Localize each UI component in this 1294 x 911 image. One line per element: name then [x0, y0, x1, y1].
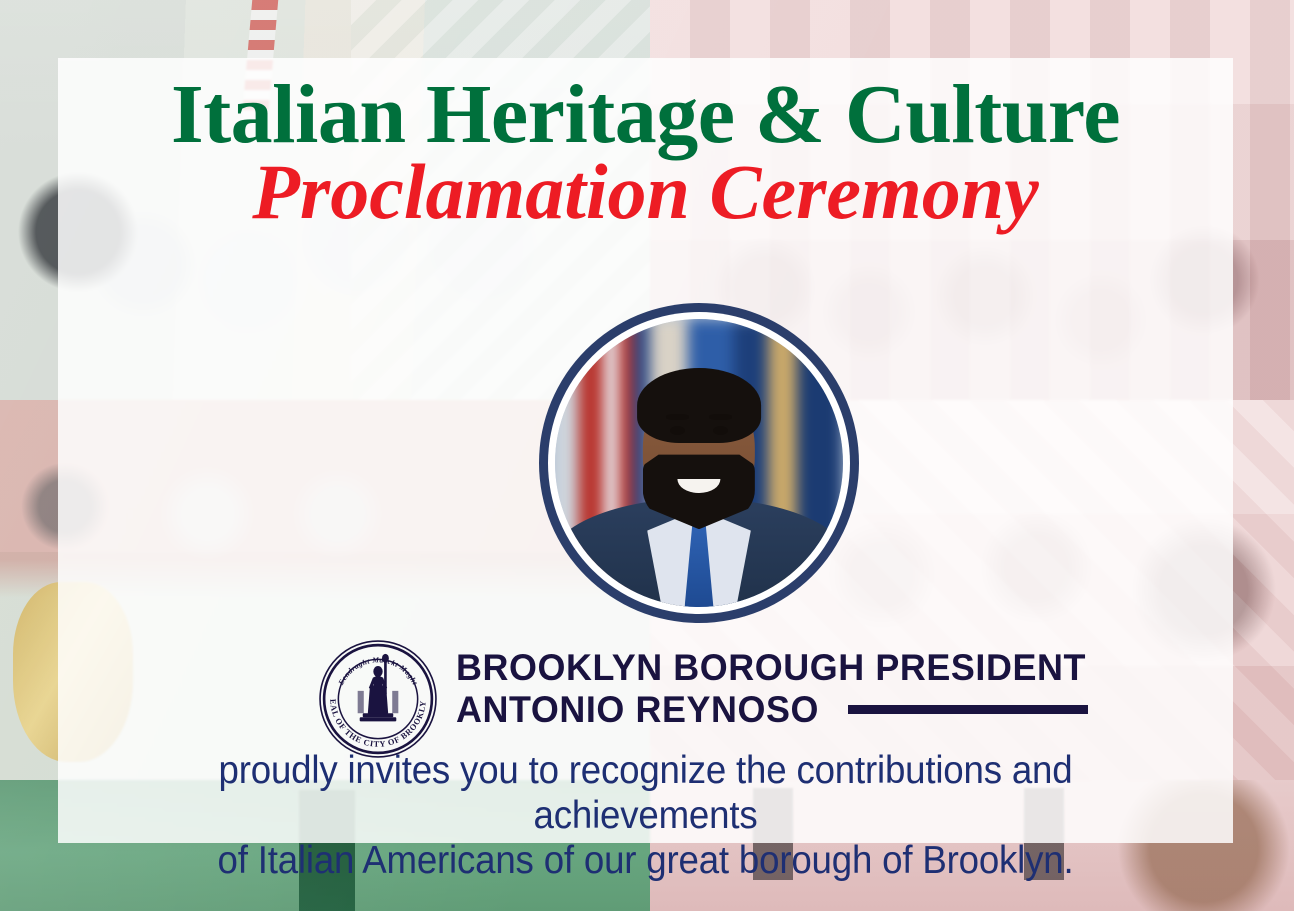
portrait-eyebrow-right [709, 414, 732, 420]
title-block: Italian Heritage & Culture Proclamation … [58, 74, 1233, 232]
invitation-line-2: of Italian Americans of our great boroug… [148, 838, 1143, 883]
avatar [555, 319, 843, 607]
brooklyn-city-seal-icon: Eendraght Maeckt Maght SEAL OF THE CITY … [317, 638, 439, 760]
content-card: Italian Heritage & Culture Proclamation … [58, 58, 1233, 843]
page-subtitle: Proclamation Ceremony [58, 152, 1233, 232]
portrait-eye-left [670, 426, 684, 435]
official-name-row: ANTONIO REYNOSO [456, 689, 1116, 731]
portrait-hair [637, 368, 761, 443]
portrait-ring [539, 303, 859, 623]
portrait-eye-right [713, 426, 727, 435]
name-divider-rule [848, 705, 1088, 714]
portrait-inner-ring [548, 312, 850, 614]
page-title: Italian Heritage & Culture [58, 74, 1233, 156]
invitation-line-1: proudly invites you to recognize the con… [148, 748, 1143, 838]
official-title: BROOKLYN BOROUGH PRESIDENT [456, 647, 1096, 689]
official-name-block: BROOKLYN BOROUGH PRESIDENT ANTONIO REYNO… [456, 647, 1116, 731]
portrait-eyebrow-left [666, 414, 689, 420]
italian-heritage-flyer: Italian Heritage & Culture Proclamation … [0, 0, 1294, 911]
invitation-text: proudly invites you to recognize the con… [116, 748, 1175, 884]
official-name: ANTONIO REYNOSO [456, 689, 819, 731]
